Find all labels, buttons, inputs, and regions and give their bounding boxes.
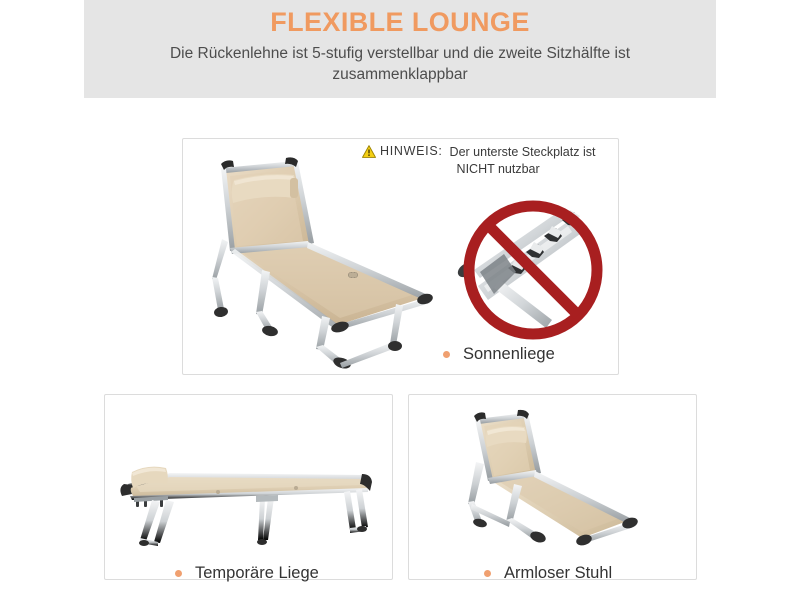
note-block: HINWEIS: Der unterste Steckplatz ist NIC… <box>362 144 612 178</box>
header-banner: FLEXIBLE LOUNGE Die Rückenlehne ist 5-st… <box>84 0 716 98</box>
caption-temporaere-liege: Temporäre Liege <box>175 564 319 583</box>
note-body-line-2: NICHT nutzbar <box>457 161 596 178</box>
armless-chair-lounger-photo <box>414 400 691 552</box>
caption-text: Temporäre Liege <box>195 564 319 583</box>
flat-lounger-side-photo <box>110 400 387 552</box>
bullet-dot-icon <box>443 351 450 358</box>
bullet-dot-icon <box>484 570 491 577</box>
bullet-dot-icon <box>175 570 182 577</box>
note-label: HINWEIS: <box>380 144 443 158</box>
caption-text: Armloser Stuhl <box>504 564 612 583</box>
page-subtitle: Die Rückenlehne ist 5-stufig verstellbar… <box>150 43 650 85</box>
note-body: Der unterste Steckplatz ist NICHT nutzba… <box>450 144 596 178</box>
caption-sonnenliege: Sonnenliege <box>443 345 555 364</box>
note-body-line-1: Der unterste Steckplatz ist <box>450 145 596 159</box>
prohibition-bracket-photo <box>444 190 622 350</box>
page-title: FLEXIBLE LOUNGE <box>84 6 716 38</box>
warning-triangle-icon <box>362 145 376 163</box>
caption-armloser-stuhl: Armloser Stuhl <box>484 564 612 583</box>
note-heading-row: HINWEIS: Der unterste Steckplatz ist NIC… <box>362 144 612 178</box>
page-subtitle-line-1: Die Rückenlehne ist 5-stufig verstellbar… <box>170 45 542 62</box>
caption-text: Sonnenliege <box>463 345 555 364</box>
